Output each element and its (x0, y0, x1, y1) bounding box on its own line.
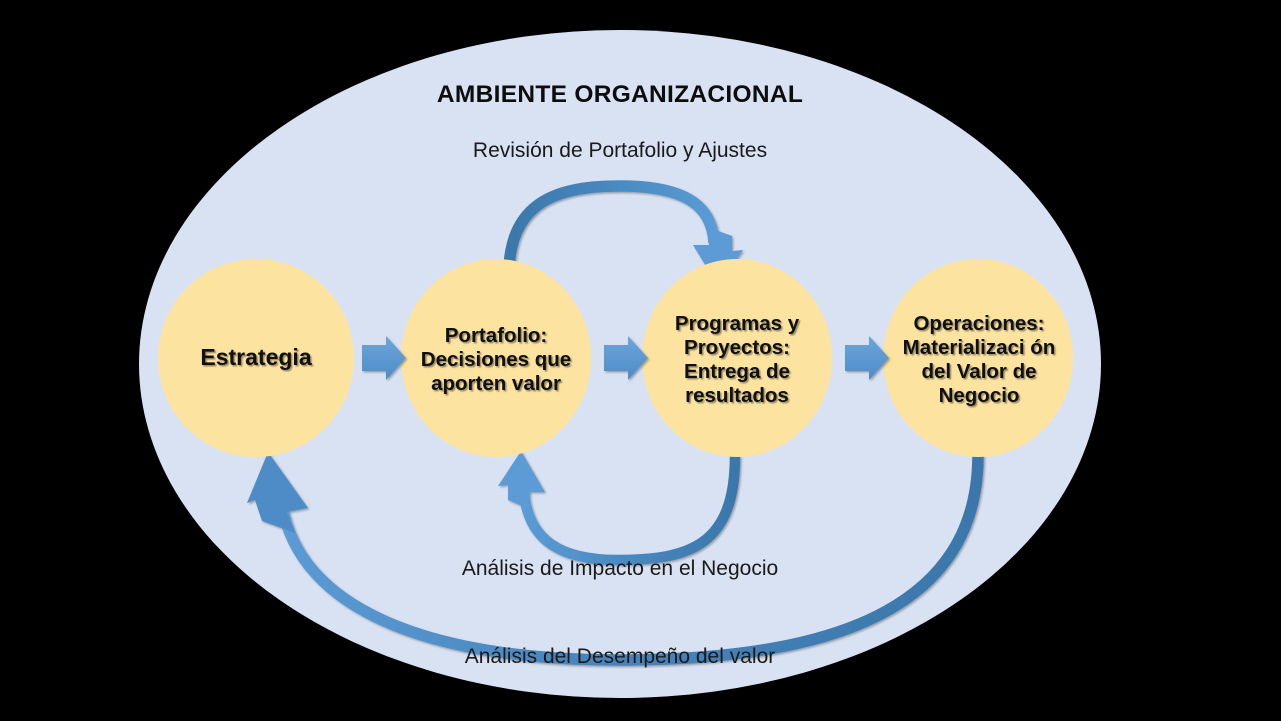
node-estrategia-heading: Estrategia (196, 344, 315, 371)
node-programas-body: Entrega de resultados (654, 360, 820, 408)
node-portafolio-heading: Portafolio: (412, 324, 580, 348)
node-programas-heading: Programas y Proyectos: (654, 312, 820, 360)
environment-title: AMBIENTE ORGANIZACIONAL (320, 74, 920, 116)
node-operaciones-heading: Operaciones: (897, 312, 1061, 336)
node-programas-label: Programas y Proyectos: Entrega de result… (650, 288, 824, 432)
node-operaciones-label: Operaciones: Materializaci ón del Valor … (893, 288, 1065, 432)
node-operaciones-body: Materializaci ón del Valor de Negocio (897, 336, 1061, 409)
organizational-environment-diagram: AMBIENTE ORGANIZACIONAL Revisión de Port… (0, 0, 1281, 721)
value-performance-label: Análisis del Desempeño del valor (340, 638, 900, 676)
node-portafolio-label: Portafolio: Decisiones que aporten valor (408, 288, 584, 432)
impact-analysis-label-text: Análisis de Impacto en el Negocio (462, 557, 778, 582)
diagram-canvas: AMBIENTE ORGANIZACIONAL Revisión de Port… (0, 0, 1281, 721)
node-portafolio-text: Portafolio: Decisiones que aporten valor (408, 324, 584, 397)
node-estrategia[interactable]: Estrategia (158, 259, 354, 457)
node-programas[interactable]: Programas y Proyectos: Entrega de result… (642, 259, 832, 457)
node-portafolio[interactable]: Portafolio: Decisiones que aporten valor (401, 259, 591, 457)
top-flow-label: Revisión de Portafolio y Ajustes (340, 132, 900, 170)
node-portafolio-body: Decisiones que aporten valor (412, 348, 580, 396)
environment-title-text: AMBIENTE ORGANIZACIONAL (437, 81, 803, 110)
top-flow-label-text: Revisión de Portafolio y Ajustes (473, 139, 767, 164)
node-operaciones[interactable]: Operaciones: Materializaci ón del Valor … (883, 259, 1073, 457)
node-programas-text: Programas y Proyectos: Entrega de result… (650, 312, 824, 409)
node-estrategia-label: Estrategia (166, 310, 346, 406)
node-operaciones-text: Operaciones: Materializaci ón del Valor … (893, 312, 1065, 409)
value-performance-label-text: Análisis del Desempeño del valor (465, 645, 776, 670)
impact-analysis-label: Análisis de Impacto en el Negocio (340, 550, 900, 588)
